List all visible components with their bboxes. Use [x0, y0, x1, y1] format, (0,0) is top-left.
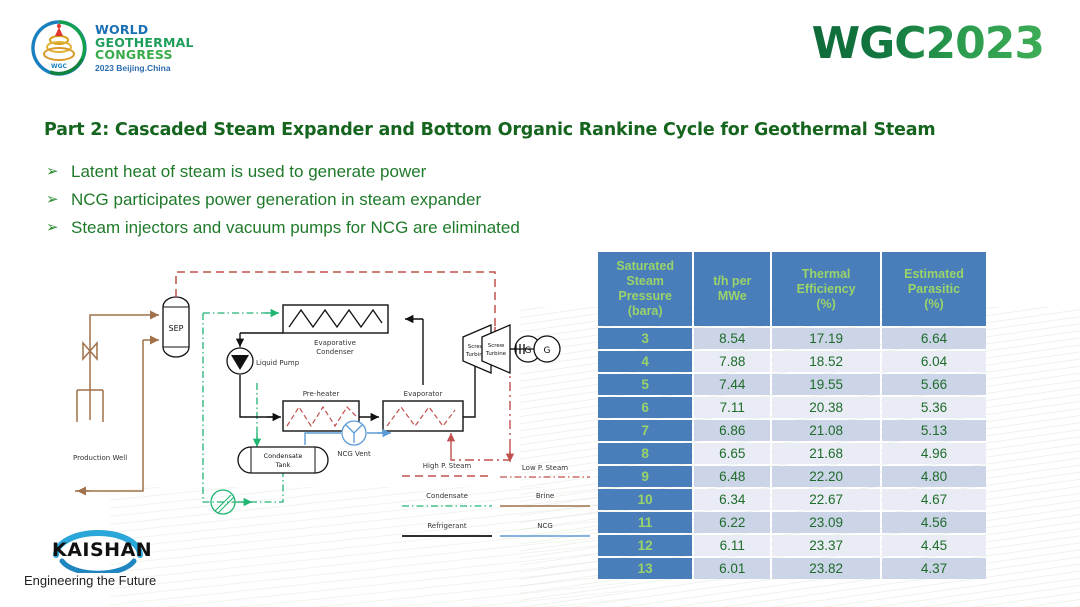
cell-th-per-mwe: 7.44 [694, 374, 770, 395]
cell-pressure: 10 [598, 489, 692, 510]
cell-pressure: 9 [598, 466, 692, 487]
bullet-text: Steam injectors and vacuum pumps for NCG… [71, 216, 520, 240]
cell-thermal-efficiency: 21.08 [772, 420, 880, 441]
table-row: 6 7.11 20.38 5.36 [598, 397, 986, 418]
kaishan-logo: KAISHAN Engineering the Future [22, 525, 192, 595]
table-row: 7 6.86 21.08 5.13 [598, 420, 986, 441]
cell-thermal-efficiency: 22.67 [772, 489, 880, 510]
label-condensate-tank-2: Tank [275, 461, 291, 469]
liquid-pump-icon [227, 348, 253, 374]
cell-estimated-parasitic: 5.66 [882, 374, 986, 395]
separator-vessel: SEP [163, 297, 189, 357]
wgc-emblem-icon: WGC [30, 19, 88, 77]
label-ncg-vent: NCG Vent [337, 450, 371, 458]
condensate-tank: Condensate Tank [238, 447, 328, 473]
label-generator-2: G [544, 346, 551, 356]
column-header-pressure: Saturated Steam Pressure (bara) [598, 252, 692, 326]
cell-estimated-parasitic: 4.56 [882, 512, 986, 533]
label-evaporative-condenser-1: Evaporative [314, 339, 356, 347]
column-header-th-per-mwe: t/h per MWe [694, 252, 770, 326]
bullet-arrow-icon: ➢ [46, 188, 59, 212]
column-header-thermal-efficiency: Thermal Efficiency (%) [772, 252, 880, 326]
cell-pressure: 7 [598, 420, 692, 441]
cell-th-per-mwe: 6.65 [694, 443, 770, 464]
cell-thermal-efficiency: 17.19 [772, 328, 880, 349]
cell-th-per-mwe: 7.88 [694, 351, 770, 372]
kaishan-wordmark: KAISHAN [52, 539, 152, 561]
cell-estimated-parasitic: 6.64 [882, 328, 986, 349]
slide: WGC WORLD GEOTHERMAL CONGRESS 2023 Beiji… [0, 0, 1080, 607]
cell-thermal-efficiency: 19.55 [772, 374, 880, 395]
cell-thermal-efficiency: 21.68 [772, 443, 880, 464]
label-pre-heater: Pre-heater [303, 390, 340, 398]
cell-estimated-parasitic: 4.96 [882, 443, 986, 464]
cell-thermal-efficiency: 23.82 [772, 558, 880, 579]
cell-thermal-efficiency: 20.38 [772, 397, 880, 418]
cell-estimated-parasitic: 6.04 [882, 351, 986, 372]
cell-pressure: 3 [598, 328, 692, 349]
logo-line-location: 2023 Beijing.China [95, 64, 194, 73]
wgc-congress-logo: WGC WORLD GEOTHERMAL CONGRESS 2023 Beiji… [30, 17, 195, 79]
evaporative-condenser [283, 305, 388, 333]
ncg-vent-fan-icon [342, 421, 366, 445]
table-row: 12 6.11 23.37 4.45 [598, 535, 986, 556]
cell-pressure: 11 [598, 512, 692, 533]
cell-estimated-parasitic: 4.37 [882, 558, 986, 579]
table-row: 10 6.34 22.67 4.67 [598, 489, 986, 510]
logo-line-congress: CONGRESS [95, 49, 194, 62]
cell-estimated-parasitic: 4.80 [882, 466, 986, 487]
label-sep: SEP [169, 324, 184, 333]
table-body: 3 8.54 17.19 6.64 4 7.88 18.52 6.04 5 7.… [598, 328, 986, 579]
table-row: 3 8.54 17.19 6.64 [598, 328, 986, 349]
generator-2: G [534, 336, 560, 362]
cell-pressure: 13 [598, 558, 692, 579]
bullet-text: NCG participates power generation in ste… [71, 188, 481, 212]
process-flow-diagram: Production Well SEP [55, 255, 600, 545]
cell-estimated-parasitic: 5.36 [882, 397, 986, 418]
cell-thermal-efficiency: 23.09 [772, 512, 880, 533]
kaishan-tagline: Engineering the Future [24, 573, 156, 588]
diagram-legend: High P. Steam Low P. Steam Condensate Br… [402, 462, 590, 536]
legend-label-1: Low P. Steam [522, 464, 568, 472]
cell-th-per-mwe: 6.01 [694, 558, 770, 579]
cell-pressure: 4 [598, 351, 692, 372]
list-item: ➢ Steam injectors and vacuum pumps for N… [46, 216, 606, 240]
cell-thermal-efficiency: 18.52 [772, 351, 880, 372]
table-row: 8 6.65 21.68 4.96 [598, 443, 986, 464]
legend-label-3: Brine [536, 492, 554, 500]
label-evaporative-condenser-2: Condenser [316, 348, 354, 356]
cell-th-per-mwe: 8.54 [694, 328, 770, 349]
table-row: 9 6.48 22.20 4.80 [598, 466, 986, 487]
list-item: ➢ Latent heat of steam is used to genera… [46, 160, 606, 184]
label-condensate-tank-1: Condensate [264, 452, 303, 460]
legend-label-2: Condensate [426, 492, 468, 500]
cell-th-per-mwe: 6.34 [694, 489, 770, 510]
cell-pressure: 5 [598, 374, 692, 395]
bullet-arrow-icon: ➢ [46, 160, 59, 184]
legend-label-5: NCG [537, 522, 553, 530]
table-row: 5 7.44 19.55 5.66 [598, 374, 986, 395]
table-row: 4 7.88 18.52 6.04 [598, 351, 986, 372]
table-header-row: Saturated Steam Pressure (bara) t/h per … [598, 252, 986, 326]
cell-thermal-efficiency: 22.20 [772, 466, 880, 487]
cell-estimated-parasitic: 4.67 [882, 489, 986, 510]
bullet-list: ➢ Latent heat of steam is used to genera… [46, 160, 606, 244]
bullet-text: Latent heat of steam is used to generate… [71, 160, 426, 184]
cell-estimated-parasitic: 5.13 [882, 420, 986, 441]
legend-label-4: Refrigerant [427, 522, 466, 530]
production-well-group [77, 315, 147, 422]
label-screw-turbine-2a: Screw [488, 343, 505, 349]
cell-pressure: 6 [598, 397, 692, 418]
cell-th-per-mwe: 6.86 [694, 420, 770, 441]
table-row: 11 6.22 23.09 4.56 [598, 512, 986, 533]
bullet-arrow-icon: ➢ [46, 216, 59, 240]
cell-thermal-efficiency: 23.37 [772, 535, 880, 556]
label-evaporator: Evaporator [404, 390, 443, 398]
cell-th-per-mwe: 6.22 [694, 512, 770, 533]
column-header-estimated-parasitic: Estimated Parasitic (%) [882, 252, 986, 326]
cell-pressure: 12 [598, 535, 692, 556]
cell-th-per-mwe: 6.48 [694, 466, 770, 487]
slide-title: Part 2: Cascaded Steam Expander and Bott… [44, 120, 935, 140]
legend-label-0: High P. Steam [423, 462, 472, 470]
cell-th-per-mwe: 7.11 [694, 397, 770, 418]
cell-pressure: 8 [598, 443, 692, 464]
label-generator-1: G [525, 346, 532, 356]
label-liquid-pump: Liquid Pump [256, 359, 300, 367]
table-row: 13 6.01 23.82 4.37 [598, 558, 986, 579]
results-table: Saturated Steam Pressure (bara) t/h per … [596, 250, 988, 581]
list-item: ➢ NCG participates power generation in s… [46, 188, 606, 212]
cell-th-per-mwe: 6.11 [694, 535, 770, 556]
label-production-well: Production Well [73, 454, 127, 462]
brand-wordmark: WGC2023 [812, 18, 1044, 69]
label-screw-turbine-2b: Turbine [485, 351, 507, 357]
svg-text:WGC: WGC [51, 63, 68, 70]
cell-estimated-parasitic: 4.45 [882, 535, 986, 556]
evaporator [383, 401, 463, 431]
